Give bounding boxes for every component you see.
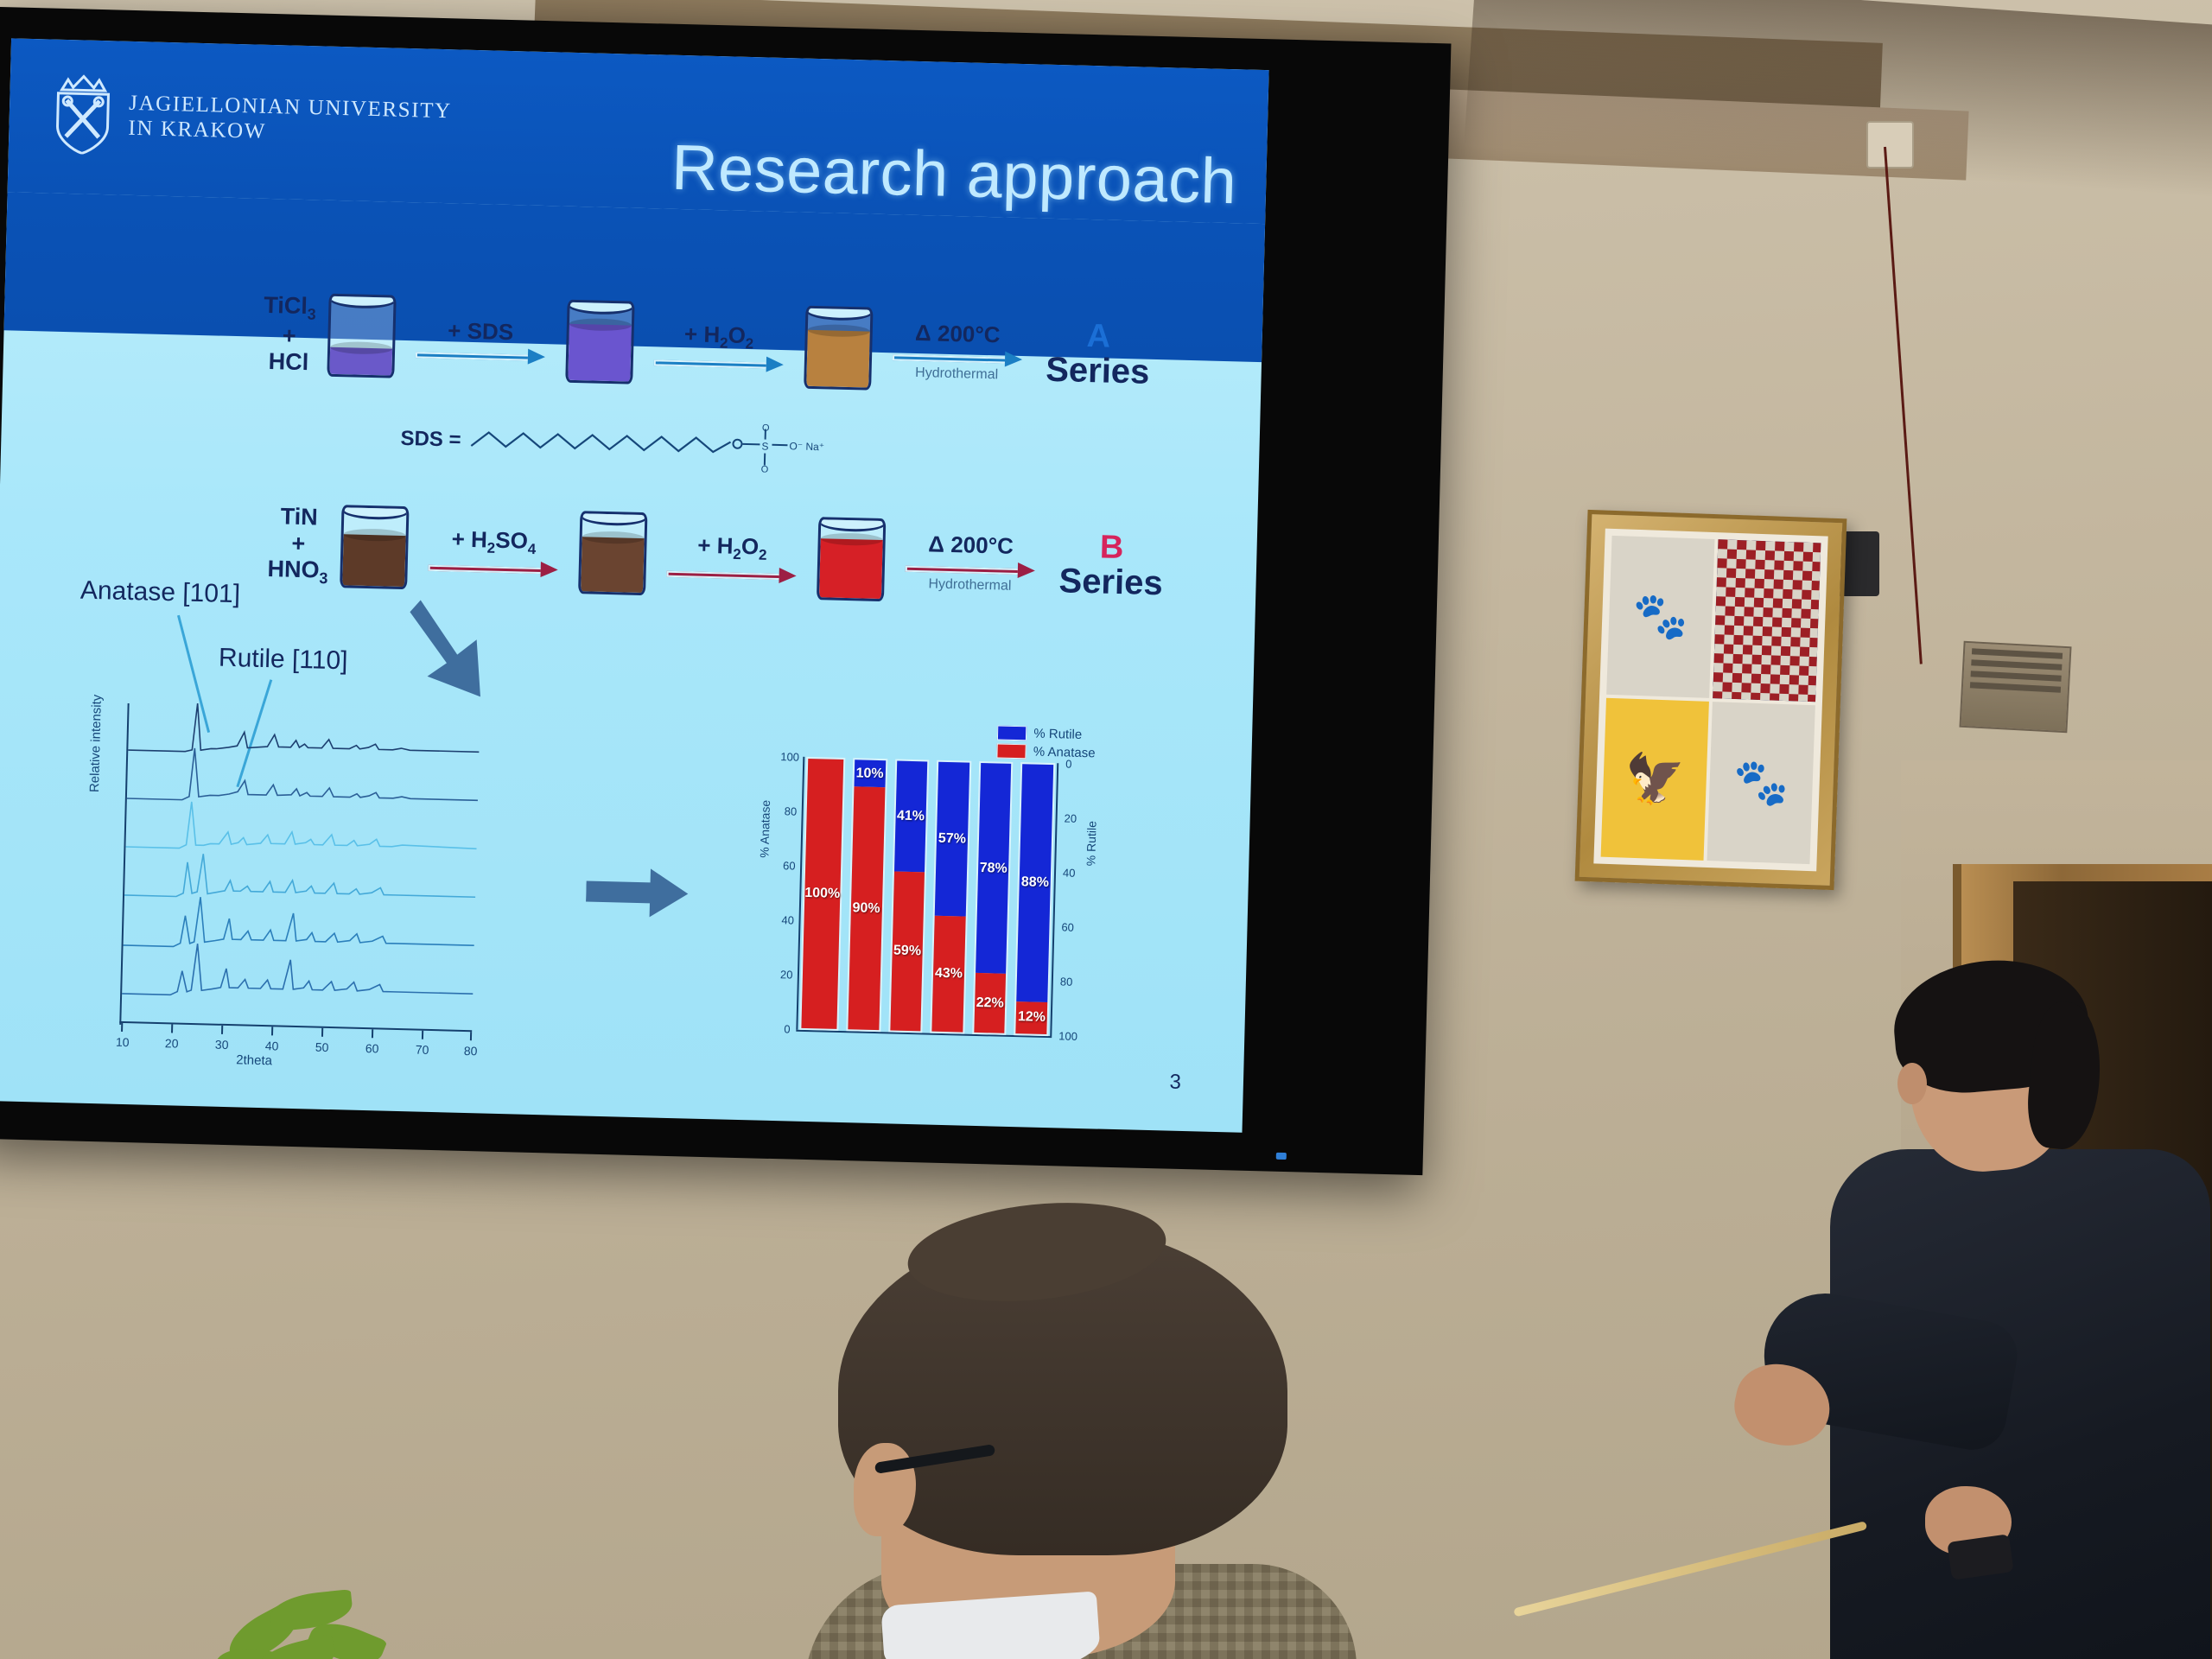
speaker-person <box>1780 933 2212 1659</box>
table-row[interactable]: 100% <box>799 757 845 1031</box>
legend-label-anatase: % Anatase <box>1033 745 1096 761</box>
table-row[interactable]: 88% 12% <box>1014 762 1056 1036</box>
arms-quarter-eagle: 🦅 <box>1601 698 1709 861</box>
beaker-glass <box>340 505 409 589</box>
arrow-icon <box>906 562 1035 575</box>
beaker-liquid <box>342 534 405 587</box>
xrd-xtick: 40 <box>265 1039 279 1052</box>
reagent-subscript: 3 <box>319 569 328 587</box>
legend-swatch-rutile <box>997 725 1027 741</box>
xrd-xtick: 10 <box>116 1035 130 1049</box>
university-logo: JAGIELLONIAN UNIVERSITY IN KRAKOW <box>50 74 453 164</box>
reaction-b-step1: + H2SO4 <box>429 525 559 575</box>
phase-composition-chart: % Rutile % Anatase % Anatase % Rutile 10… <box>750 740 1103 1068</box>
series-word: Series <box>1046 352 1150 391</box>
svg-text:S: S <box>761 440 768 452</box>
series-b-label: B Series <box>1058 530 1164 601</box>
series-word: Series <box>1058 563 1163 601</box>
beaker-glass <box>578 511 647 595</box>
beaker-a2 <box>565 300 634 385</box>
reagent-plus: + <box>291 530 306 556</box>
arms-quarter-lion: 🐾 <box>1606 536 1714 698</box>
callout-anatase: Anatase [101] <box>80 576 241 610</box>
bar-label-anatase: 59% <box>893 943 921 959</box>
bar-ytick-left: 60 <box>783 859 796 872</box>
sds-chain-icon: S O O O⁻ Na⁺ <box>467 416 831 474</box>
table-row[interactable]: 57% 43% <box>930 760 971 1034</box>
reagent-formula-2: HNO <box>267 556 320 583</box>
checkered-pattern-icon <box>1713 539 1821 702</box>
arrow-icon <box>653 356 783 370</box>
table-row[interactable]: 78% 22% <box>972 761 1014 1035</box>
xrd-traces <box>83 697 497 1036</box>
step-label-b: O <box>741 533 760 560</box>
step-label: + SDS <box>416 316 546 346</box>
coat-of-arms-frame: 🐾 🦅 🐾 <box>1575 510 1847 890</box>
step-label: + H2SO4 <box>429 525 559 559</box>
reaction-a-step3: Δ 200°C Hydrothermal <box>892 319 1023 384</box>
xrd-xtick: 80 <box>464 1044 478 1058</box>
xrd-xtick: 70 <box>416 1043 429 1057</box>
bar-ytick-right: 80 <box>1060 975 1073 988</box>
beaker-glass <box>327 294 396 378</box>
bar-ytick-right: 0 <box>1065 757 1072 770</box>
bar-ytick-right: 40 <box>1063 866 1076 879</box>
series-letter: A <box>1046 319 1151 354</box>
beaker-liquid <box>568 324 632 382</box>
svg-text:O: O <box>762 423 770 433</box>
step-sublabel: Hydrothermal <box>892 365 1021 384</box>
bar-ytick-right: 100 <box>1058 1029 1077 1043</box>
coat-of-arms: 🐾 🦅 🐾 <box>1593 529 1827 872</box>
wall-junction-box <box>1866 121 1914 168</box>
bar-label-anatase: 100% <box>804 886 840 902</box>
legend-swatch-anatase <box>997 743 1027 759</box>
reaction-a-step1: + SDS <box>415 316 545 362</box>
step-sub-a: 2 <box>720 335 728 352</box>
beaker-b1 <box>340 505 409 589</box>
reagent-formula: TiCl <box>264 292 308 319</box>
beaker-liquid <box>806 330 870 388</box>
reaction-a-reagent: TiCl3 + HCl <box>262 292 316 376</box>
bar-ytick-right: 20 <box>1064 811 1077 824</box>
reaction-row-b: TiN + HNO3 + H2SO4 <box>267 503 1164 608</box>
xrd-xtick: 30 <box>215 1038 229 1052</box>
xrd-chart: Relative intensity 2theta <box>82 697 497 1071</box>
table-row[interactable]: 10% 90% <box>846 758 887 1032</box>
lion-icon: 🐾 <box>1732 760 1790 806</box>
step-label-a: + H <box>684 321 721 348</box>
audience-person <box>804 1227 1339 1659</box>
university-logo-text: JAGIELLONIAN UNIVERSITY IN KRAKOW <box>128 90 452 149</box>
jagiellonian-crest-icon <box>50 74 116 156</box>
arrow-icon <box>892 351 1021 365</box>
bar-label-rutile: 41% <box>897 809 925 825</box>
eagle-icon: 🦅 <box>1624 754 1686 804</box>
reaction-b-reagent: TiN + HNO3 <box>267 504 329 588</box>
bar-label-anatase: 12% <box>1018 1009 1046 1026</box>
reaction-a-step2: + H2O2 <box>653 321 784 370</box>
beaker-a1 <box>327 294 396 378</box>
bar-chart-y-axis-label-left: % Anatase <box>757 800 772 858</box>
screen-power-led <box>1276 1153 1287 1160</box>
slide: JAGIELLONIAN UNIVERSITY IN KRAKOW Resear… <box>0 38 1269 1132</box>
bar-ytick-left: 20 <box>780 968 793 981</box>
bar-ytick-right: 60 <box>1061 920 1074 933</box>
arrow-icon <box>429 561 558 575</box>
arrow-icon <box>415 348 544 362</box>
step-sub-a: 2 <box>486 540 495 556</box>
beaker-glass <box>804 306 873 391</box>
beaker-b2 <box>578 511 647 595</box>
beaker-a3 <box>804 306 873 391</box>
bar-chart-plot-area: 100% 10% 90% 41% <box>799 757 1055 1036</box>
wall-vent <box>1959 641 2071 733</box>
bar-label-rutile: 78% <box>979 861 1007 877</box>
presentation-screen[interactable]: JAGIELLONIAN UNIVERSITY IN KRAKOW Resear… <box>0 7 1451 1175</box>
bar-ytick-left: 80 <box>785 804 798 817</box>
reaction-b-step3: Δ 200°C Hydrothermal <box>905 530 1036 594</box>
step-label: Δ 200°C <box>893 319 1023 349</box>
bar-label-anatase: 43% <box>935 966 963 982</box>
beaker-b3 <box>817 517 886 601</box>
series-a-label: A Series <box>1046 319 1151 391</box>
xrd-x-axis-label: 2theta <box>236 1052 272 1068</box>
step-sub-b: 2 <box>759 547 767 563</box>
bar-chart-y-axis-label-right: % Rutile <box>1084 821 1098 867</box>
sds-label: SDS = <box>400 427 461 453</box>
chart-legend: % Rutile % Anatase <box>997 725 1096 760</box>
beaker-liquid <box>819 538 883 599</box>
down-arrow-icon <box>408 593 514 708</box>
step-label-a: + H <box>697 532 734 559</box>
bar-label-anatase: 90% <box>852 900 880 917</box>
step-label-a: + H <box>451 526 487 553</box>
step-sub-b: 4 <box>527 541 536 557</box>
legend-label-rutile: % Rutile <box>1033 727 1082 742</box>
bar-label-anatase: 22% <box>976 995 1003 1012</box>
legend-item-rutile: % Rutile <box>997 725 1096 742</box>
step-label-b: O <box>728 322 746 349</box>
beaker-liquid <box>581 537 645 593</box>
bar-ytick-left: 40 <box>781 913 794 926</box>
reagent-subscript: 3 <box>307 306 316 323</box>
step-label: + H2O2 <box>667 531 798 565</box>
foreground-plant <box>216 1581 406 1659</box>
reaction-b-step2: + H2O2 <box>667 531 798 581</box>
bar-label-rutile: 10% <box>855 766 883 782</box>
step-sub-b: 2 <box>745 336 753 353</box>
lion-icon: 🐾 <box>1632 594 1690 640</box>
xrd-xtick: 20 <box>165 1036 179 1050</box>
bar-ytick-left: 100 <box>780 750 799 764</box>
legend-item-anatase: % Anatase <box>997 743 1096 760</box>
reagent-formula: TiN <box>280 504 318 531</box>
arms-quarter-checkered <box>1713 539 1821 702</box>
bar-label-rutile: 88% <box>1021 874 1049 891</box>
xrd-xtick: 60 <box>365 1041 379 1055</box>
table-row[interactable]: 41% 59% <box>888 759 930 1033</box>
step-label-b: SO <box>495 527 528 554</box>
bar-label-rutile: 57% <box>938 831 966 848</box>
callout-rutile: Rutile [110] <box>219 644 348 677</box>
bar-ytick-left: 0 <box>784 1022 791 1035</box>
page-title: Research approach <box>671 130 1237 219</box>
arms-quarter-lion2: 🐾 <box>1707 702 1815 864</box>
reagent-formula-2: HCl <box>268 348 308 375</box>
beaker-glass <box>817 517 886 601</box>
reagent-plus: + <box>282 322 296 348</box>
arrow-icon <box>667 567 797 581</box>
step-label: Δ 200°C <box>906 530 1036 560</box>
sds-structure: SDS = S O O O⁻ Na⁺ <box>400 415 831 474</box>
svg-text:O⁻ Na⁺: O⁻ Na⁺ <box>789 440 824 453</box>
beaker-glass <box>565 300 634 385</box>
series-letter: B <box>1059 530 1164 565</box>
xrd-xtick: 50 <box>315 1040 329 1054</box>
svg-text:O: O <box>761 464 769 474</box>
right-arrow-icon <box>586 866 690 920</box>
step-sublabel: Hydrothermal <box>905 575 1034 594</box>
beaker-liquid <box>329 347 392 375</box>
speaker-ear <box>1897 1063 1927 1104</box>
page-number: 3 <box>1169 1071 1181 1095</box>
hanging-cable <box>1884 147 1923 664</box>
ceiling-shadow <box>1464 0 2212 200</box>
step-label: + H2O2 <box>654 321 785 354</box>
